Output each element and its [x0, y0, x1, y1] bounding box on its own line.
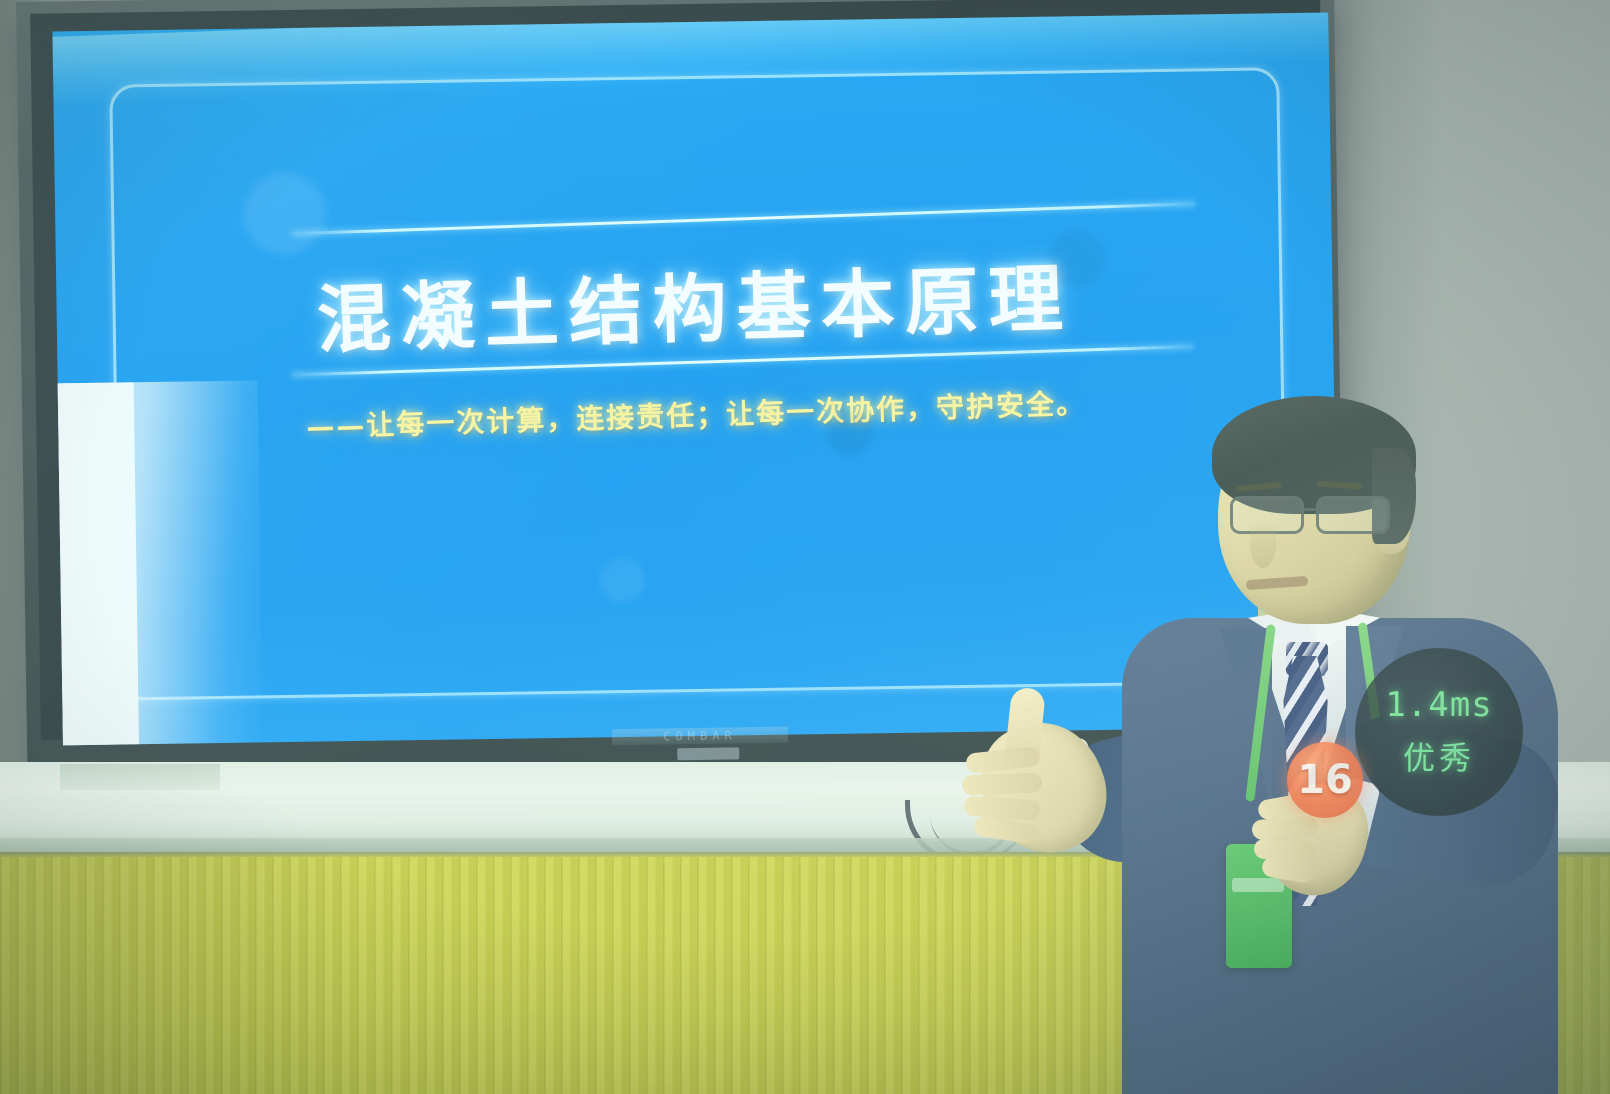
latency-grade-overlay-badge: 1.4ms 优秀	[1355, 648, 1523, 816]
latency-value: 1.4ms	[1385, 685, 1492, 725]
presenter-id-badge-strip	[1232, 878, 1284, 892]
presenter-nose	[1250, 520, 1276, 568]
ledge-notch	[60, 764, 220, 790]
glasses-lens-right	[1316, 496, 1390, 534]
grade-value: 优秀	[1403, 733, 1475, 779]
display-brand-label: COMBAR	[612, 727, 788, 746]
glasses-bridge	[1298, 508, 1316, 511]
presenter-finger-left-2	[962, 773, 1043, 796]
presenter-finger-right-3	[1254, 838, 1317, 861]
count-overlay-badge: 16	[1287, 742, 1363, 818]
projection-blowout-left-core	[52, 382, 139, 745]
ir-sensor-bar	[677, 747, 739, 760]
lecture-capture-frame: 混凝土结构基本原理 ——让每一次计算，连接责任；让每一次协作，守护安全。 COM…	[0, 0, 1610, 1094]
